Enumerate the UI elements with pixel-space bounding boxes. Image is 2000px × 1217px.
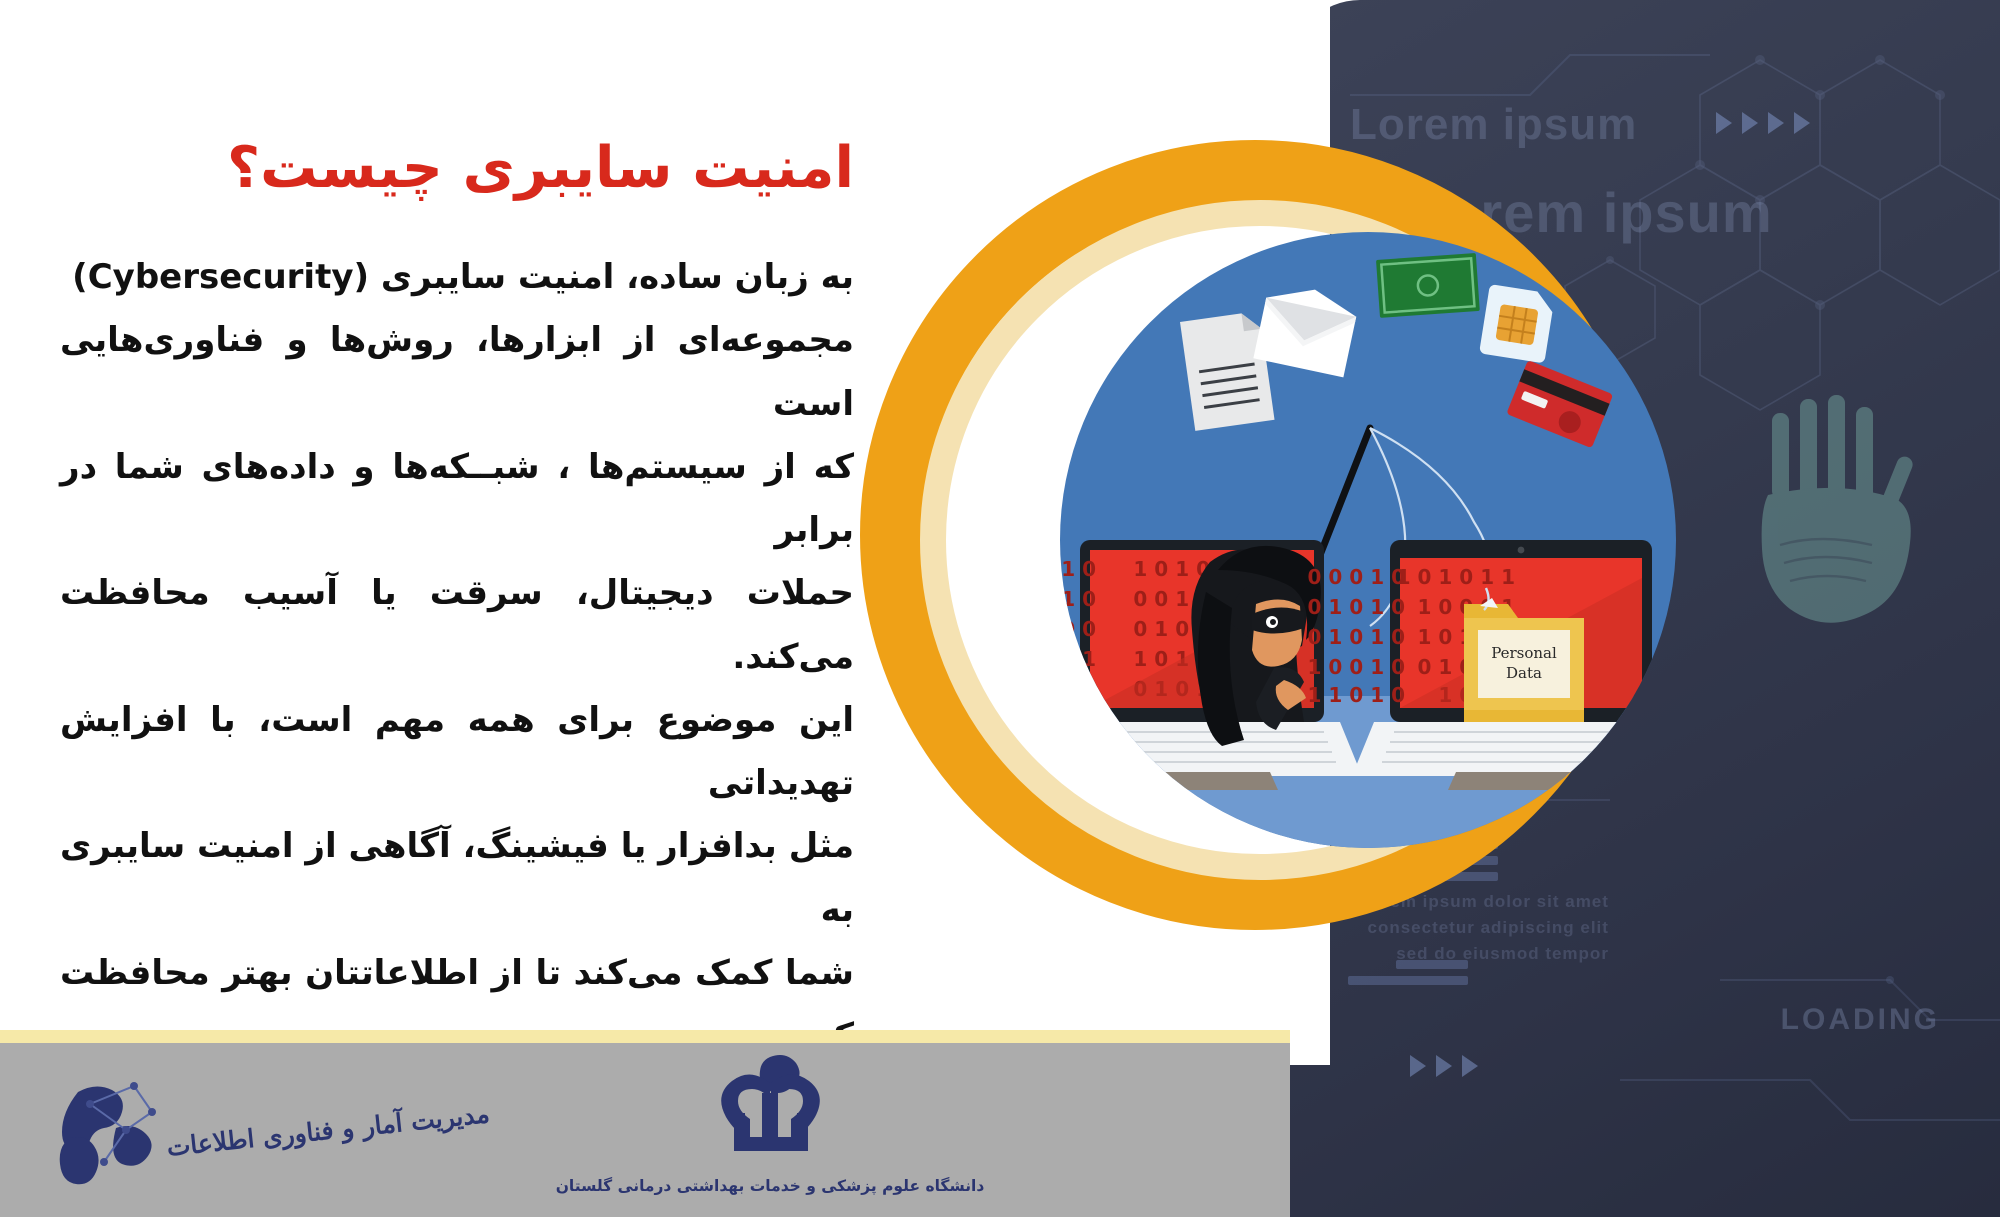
it-management-label: مدیریت آمار و فناوری اطلاعات — [165, 1099, 491, 1162]
body-line-1: به زبان ساده، امنیت سایبری (Cybersecurit… — [60, 246, 854, 309]
banknote-icon — [1376, 253, 1480, 318]
cybersecurity-illustration: 0 1 0 00 1 0 1 0 0 0 11 0 1 0 0 1 0 1 0 … — [1060, 232, 1676, 848]
it-management-logo: مدیریت آمار و فناوری اطلاعات — [110, 1065, 490, 1195]
svg-text:0 1 0 1 0: 0 1 0 1 0 — [1308, 595, 1405, 619]
arrow-row-bottom — [1410, 1055, 1478, 1077]
svg-text:0 1 0 1 0: 0 1 0 1 0 — [1308, 625, 1405, 649]
svg-text:0 1 0 1: 0 1 0 1 — [1133, 557, 1210, 581]
svg-text:0 1 0 1 1: 0 1 0 1 1 — [1308, 683, 1405, 707]
university-logo: دانشگاه علوم پزشکی و خدمات بهداشتی درمان… — [600, 1053, 940, 1217]
credit-card-icon — [1506, 360, 1613, 448]
globe-network-icon — [30, 1068, 160, 1193]
page-title: امنیت سایبری چیست؟ — [60, 135, 854, 202]
university-emblem-icon — [708, 1053, 833, 1173]
footer-bar: مدیریت آمار و فناوری اطلاعات — [0, 1030, 1290, 1217]
body-line-4: حملات دیجیتال، سرقت یا آسیب محافظت می‌کن… — [60, 562, 854, 688]
data-bar-stack-left-2 — [1348, 960, 1468, 985]
hacker-figure — [1191, 546, 1320, 746]
svg-text:1 1 0 1 0 1: 1 1 0 1 0 1 — [1397, 565, 1515, 589]
loading-label: LOADING — [1781, 1003, 1940, 1037]
svg-text:1 0 1 0: 1 0 1 0 — [1060, 647, 1096, 671]
poster-canvas: Lorem ipsum Lorem ipsum Lorem ipsum dolo… — [0, 0, 2000, 1217]
hand-print-icon — [1750, 395, 1940, 625]
envelope-icon — [1253, 280, 1360, 377]
svg-text:0 1 0 0 1: 0 1 0 0 1 — [1308, 655, 1405, 679]
arrow-row-top — [1716, 112, 1810, 134]
svg-text:0 1 0 1: 0 1 0 1 — [1060, 677, 1096, 701]
text-content-area: امنیت سایبری چیست؟ به زبان ساده، امنیت س… — [0, 0, 900, 1010]
body-line-6: مثل بدافزار یا فیشینگ، آگاهی از امنیت سا… — [60, 815, 854, 941]
university-caption: دانشگاه علوم پزشکی و خدمات بهداشتی درمان… — [556, 1177, 985, 1195]
svg-text:0 1 0 1: 0 1 0 1 — [1060, 587, 1096, 611]
svg-text:0 1 0 0 0: 0 1 0 0 0 — [1308, 565, 1405, 589]
panel-ghost-text-1: Lorem ipsum — [1350, 100, 1637, 150]
folder-label-line1: Personal — [1491, 644, 1557, 662]
body-paragraph: به زبان ساده، امنیت سایبری (Cybersecurit… — [60, 246, 854, 1068]
body-line-5: این موضوع برای همه مهم است، با افزایش ته… — [60, 689, 854, 815]
folder-label-line2: Data — [1506, 664, 1542, 682]
svg-text:0 1 0 0: 0 1 0 0 — [1060, 557, 1096, 581]
laptop-right: 0 1 0 0 00 1 0 1 0 0 1 0 1 00 1 0 0 1 0 … — [1308, 540, 1676, 790]
sim-card-icon — [1479, 284, 1555, 363]
body-line-3: که از سیستم‌ها ، شبــکه‌ها و داده‌های شم… — [60, 436, 854, 562]
svg-text:0 0 0 1: 0 0 0 1 — [1060, 617, 1096, 641]
illustration-artwork: 0 1 0 00 1 0 1 0 0 0 11 0 1 0 0 1 0 1 0 … — [1060, 232, 1676, 848]
body-line-2: مجموعه‌ای از ابزارها، روش‌ها و فناوری‌ها… — [60, 309, 854, 435]
